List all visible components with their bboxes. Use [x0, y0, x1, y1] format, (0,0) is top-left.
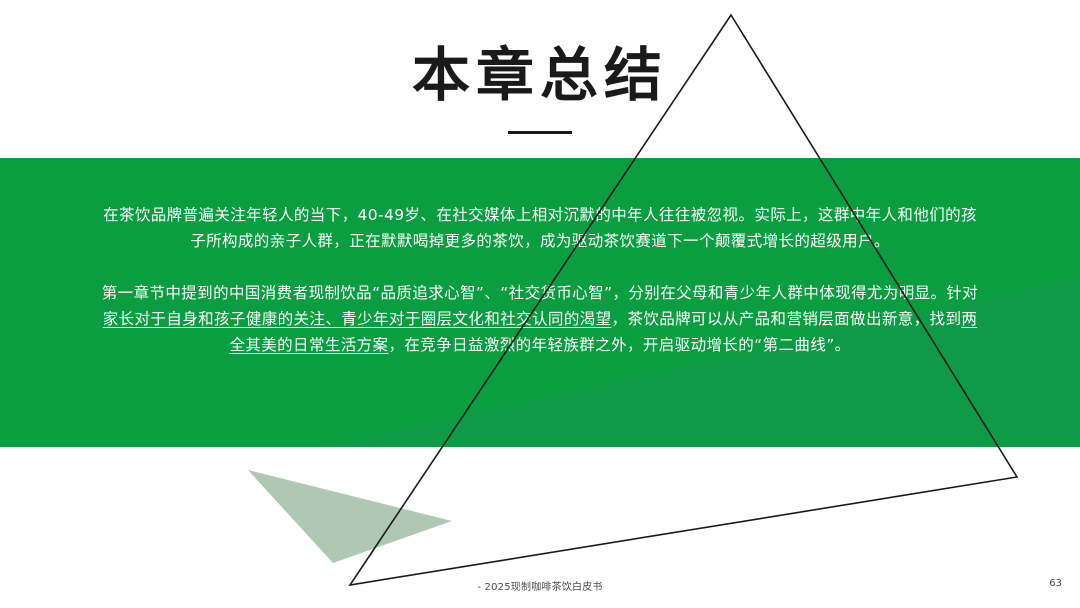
green-content-band: 在茶饮品牌普遍关注年轻人的当下，40-49岁、在社交媒体上相对沉默的中年人往往被…: [0, 158, 1080, 447]
summary-paragraph-1: 在茶饮品牌普遍关注年轻人的当下，40-49岁、在社交媒体上相对沉默的中年人往往被…: [100, 202, 980, 254]
page-title: 本章总结: [0, 44, 1080, 107]
title-divider: [508, 131, 572, 134]
slide-root: 本章总结 在茶饮品牌普遍关注年轻人的当下，40-49岁、在社交媒体上相对沉默的中…: [0, 0, 1080, 608]
summary-paragraph-2: 第一章节中提到的中国消费者现制饮品“品质追求心智”、“社交货币心智”，分别在父母…: [100, 280, 980, 358]
light-green-triangle: [248, 470, 452, 563]
band-body: 在茶饮品牌普遍关注年轻人的当下，40-49岁、在社交媒体上相对沉默的中年人往往被…: [0, 158, 1080, 358]
p2-seg-1: 第一章节中提到的中国消费者现制饮品“品质追求心智”、“社交货币心智”，分别在父母…: [102, 284, 978, 302]
p2-seg-2-underlined: 家长对于自身和孩子健康的关注、青少年对于圈层文化和社交认同的渴望: [103, 310, 612, 328]
p2-seg-3: ，茶饮品牌可以从产品和营销层面做出新意，找到: [612, 310, 962, 328]
title-block: 本章总结: [0, 44, 1080, 134]
footer: - 2025现制咖啡茶饮白皮书 63: [0, 578, 1080, 598]
page-number: 63: [1049, 578, 1062, 589]
p2-seg-5: ，在竞争日益激烈的年轻族群之外，开启驱动增长的“第二曲线”。: [388, 336, 850, 354]
footer-caption: - 2025现制咖啡茶饮白皮书: [0, 578, 1080, 593]
